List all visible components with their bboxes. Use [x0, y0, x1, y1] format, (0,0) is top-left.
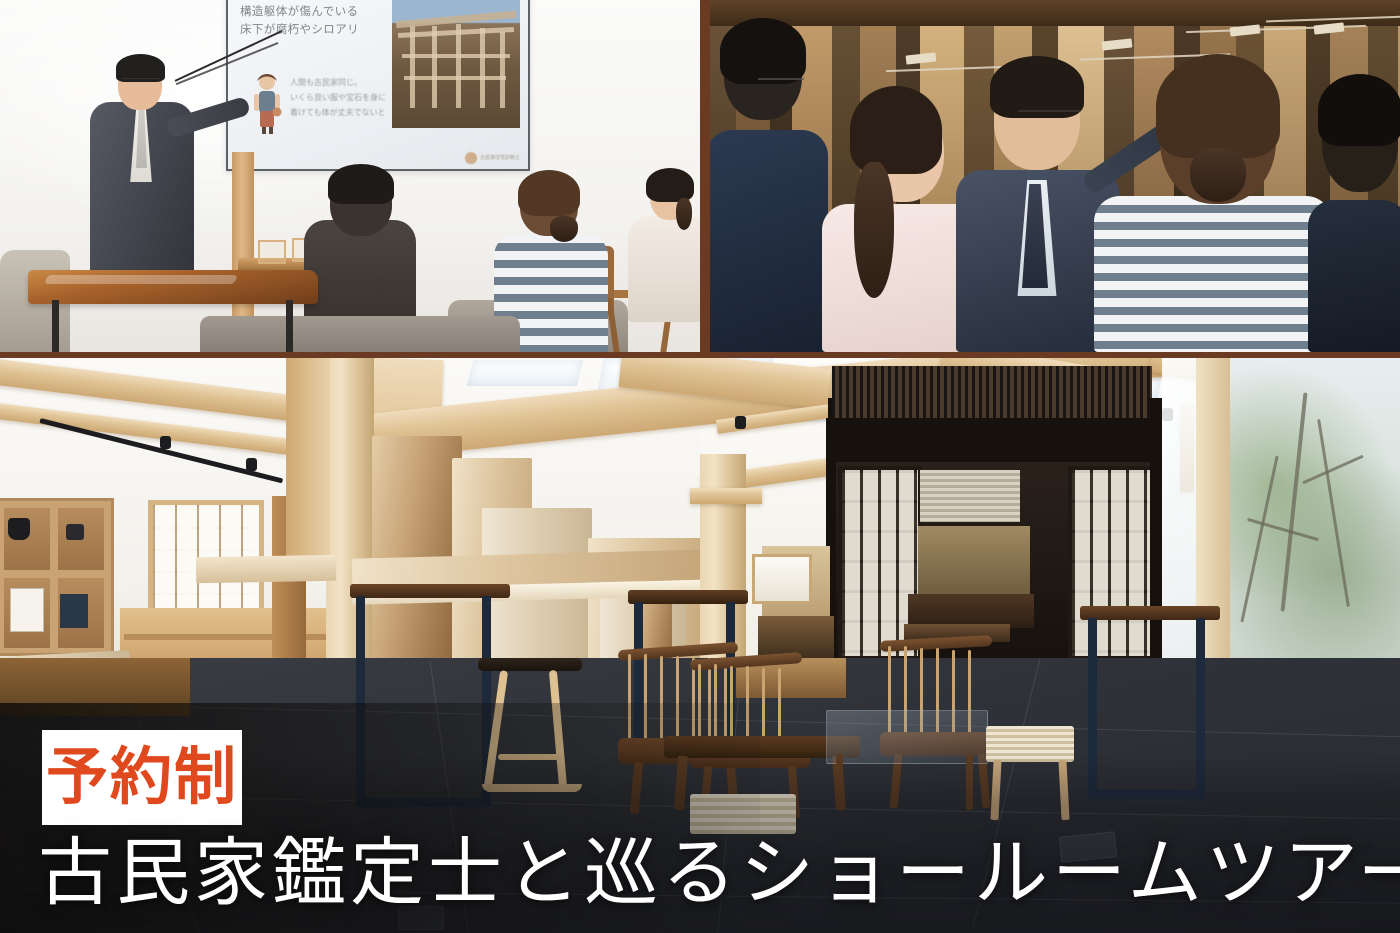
- right-post-brace: [690, 488, 762, 504]
- bamboo-blind: [920, 470, 1020, 522]
- counter-shelf-line: [124, 634, 346, 640]
- iron-kettle: [8, 518, 30, 540]
- table-leg-right: [286, 300, 293, 352]
- spotlight-4: [735, 416, 746, 429]
- photo-wood-tour: [710, 0, 1400, 352]
- woven-stool: [986, 726, 1074, 762]
- attendee-woman-right: [628, 172, 700, 322]
- main-timber-post-2: [286, 358, 330, 558]
- wooden-stool-rocking: [470, 658, 588, 808]
- tatami-room-tansu: [908, 594, 1034, 628]
- tatami-room-wall: [918, 526, 1030, 600]
- projection-screen: 屋根が雨漏れしている 構造躯体が傷んでいる 床下が腐朽やシロアリ: [226, 0, 530, 171]
- participant-far-right: [1308, 70, 1400, 352]
- slide-logo-text: 古民家住宅診断士: [480, 155, 520, 161]
- spotlight-1: [160, 436, 171, 449]
- participant-left-back: [710, 18, 830, 352]
- shelf-object: [66, 524, 84, 540]
- side-window: [752, 554, 812, 604]
- upper-slab-shelf: [196, 555, 336, 583]
- woven-bench-front: [690, 794, 796, 834]
- presenter-glasses-icon: [122, 78, 160, 88]
- slide-caption-line-2: いくら良い服や宝石を身に: [290, 91, 402, 106]
- framed-certificate: [10, 588, 44, 632]
- reservation-badge: 予約制: [42, 730, 242, 825]
- top-photo-row: 屋根が雨漏れしている 構造躯体が傷んでいる 床下が腐朽やシロアリ: [0, 0, 1400, 356]
- shelf-book: [60, 594, 88, 628]
- bar-table-right: [1080, 606, 1220, 806]
- spotlight-2: [246, 458, 257, 471]
- slide-caption-line-3: 着けても体が丈夫でないと: [290, 106, 402, 121]
- event-banner: 屋根が雨漏れしている 構造躯体が傷んでいる 床下が腐朽やシロアリ: [0, 0, 1400, 933]
- photo-seminar: 屋根が雨漏れしている 構造躯体が傷んでいる 床下が腐朽やシロアリ: [0, 0, 700, 352]
- wood-floor-strip-left: [0, 658, 190, 716]
- slide-bullet-list: 屋根が雨漏れしている 構造躯体が傷んでいる 床下が腐朽やシロアリ: [240, 0, 405, 39]
- glass-coffee-table: [826, 710, 988, 764]
- slide-logo: 古民家住宅診断士: [465, 152, 520, 164]
- slide-bullet-2: 構造躯体が傷んでいる: [240, 4, 405, 22]
- slide-logo-mark: [465, 152, 477, 164]
- live-edge-table: [28, 270, 318, 304]
- slide-caption-line-1: 人間も古民家同じ。: [290, 76, 402, 91]
- kumiko-ranma: [832, 366, 1152, 422]
- sofa-center: [200, 316, 520, 352]
- tatami-room-lintel: [826, 418, 1162, 464]
- reservation-badge-label: 予約制: [46, 747, 238, 809]
- slide-photo-old-house: [392, 0, 520, 128]
- slide-caption: 人間も古民家同じ。 いくら良い服や宝石を身に 着けても体が丈夫でないと: [290, 76, 402, 120]
- table-leg-left: [52, 300, 59, 352]
- panel-divider-vertical: [700, 0, 710, 356]
- wood-model-cube-1: [258, 240, 286, 264]
- glass-table-leg-1: [836, 754, 843, 810]
- slide-illustration-person: [250, 72, 284, 134]
- participant-striped-shirt: [1094, 48, 1334, 352]
- glass-table-leg-2: [966, 754, 973, 810]
- banner-headline: 古民家鑑定士と巡るショールームツアー: [38, 837, 1400, 911]
- skylight-1: [467, 360, 583, 386]
